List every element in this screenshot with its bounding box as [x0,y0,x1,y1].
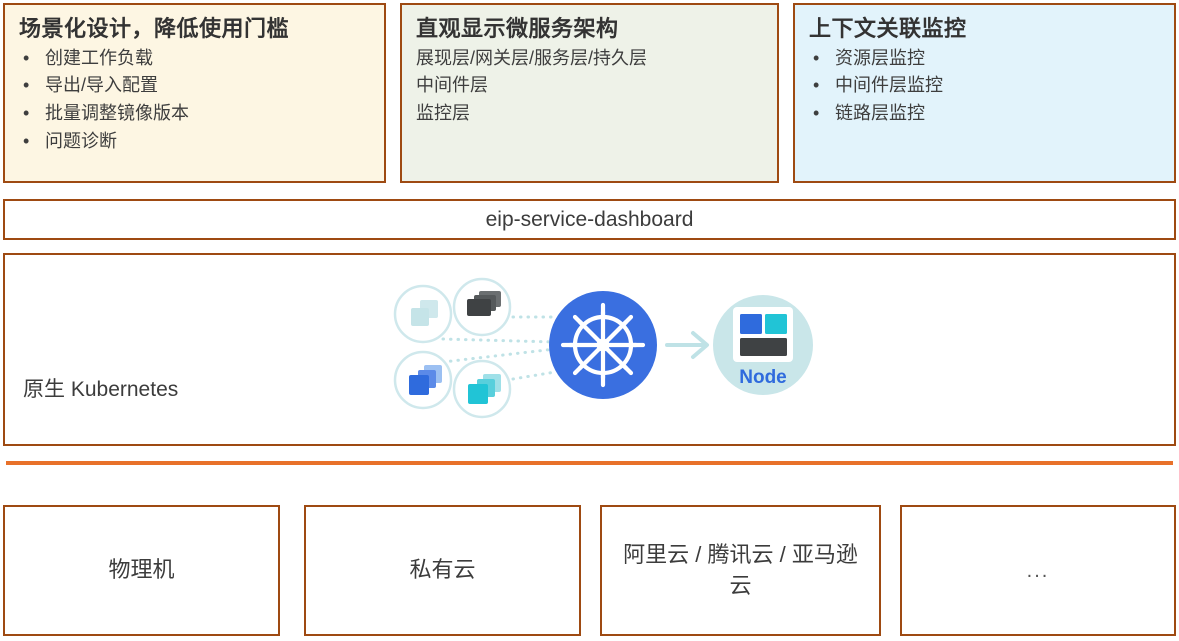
feature-card-title: 上下文关联监控 [809,15,1160,43]
list-item-label: 导出/导入配置 [45,75,158,95]
stacked-squares-dark-icon [454,279,510,335]
list-item-label: 资源层监控 [835,48,925,68]
list-item: • 链路层监控 [809,100,1160,128]
stacked-squares-cyan-icon [454,361,510,417]
infra-box-physical-machine: 物理机 [3,505,280,636]
list-item: • 中间件层监控 [809,72,1160,100]
list-item: • 资源层监控 [809,45,1160,73]
feature-card-context-monitoring: 上下文关联监控 • 资源层监控 • 中间件层监控 • 链路层监控 [793,3,1176,183]
feature-card-title: 直观显示微服务架构 [416,15,763,43]
node-label: Node [739,367,787,388]
bullet-icon: • [23,45,29,73]
feature-bullet-list: • 创建工作负载 • 导出/导入配置 • 批量调整镜像版本 • 问题诊断 [19,45,370,157]
section-divider [6,461,1173,465]
list-item: • 批量调整镜像版本 [19,100,370,128]
dashboard-layer-bar: eip-service-dashboard [3,199,1176,240]
list-item-label: 批量调整镜像版本 [45,103,189,123]
arrow-right-icon [667,333,707,357]
bullet-icon: • [23,100,29,128]
bullet-icon: • [23,128,29,156]
feature-card-microservice-architecture: 直观显示微服务架构 展现层/网关层/服务层/持久层 中间件层 监控层 [400,3,779,183]
feature-text-lines: 展现层/网关层/服务层/持久层 中间件层 监控层 [416,45,763,129]
kubernetes-label: 原生 Kubernetes [23,373,178,403]
list-item-label: 链路层监控 [835,103,925,123]
infra-box-private-cloud: 私有云 [304,505,581,636]
bullet-icon: • [813,100,819,128]
list-item-label: 创建工作负载 [45,48,153,68]
list-item: 中间件层 [416,72,763,100]
infra-box-label: 私有云 [409,555,475,586]
list-item-label: 中间件层监控 [835,75,943,95]
feature-card-title: 场景化设计，降低使用门槛 [19,15,370,43]
infra-box-label: 物理机 [108,555,174,586]
list-item: 展现层/网关层/服务层/持久层 [416,45,763,73]
feature-bullet-list: • 资源层监控 • 中间件层监控 • 链路层监控 [809,45,1160,129]
infra-box-more: ... [900,505,1176,636]
kubernetes-layer-panel: 原生 Kubernetes [3,253,1176,446]
stacked-squares-teal-light-icon [395,286,451,342]
architecture-diagram: 场景化设计，降低使用门槛 • 创建工作负载 • 导出/导入配置 • 批量调整镜像… [0,0,1179,641]
infra-box-label: ... [1027,557,1050,585]
bullet-icon: • [23,72,29,100]
bullet-icon: • [813,45,819,73]
feature-card-scenario-design: 场景化设计，降低使用门槛 • 创建工作负载 • 导出/导入配置 • 批量调整镜像… [3,3,386,183]
list-item-label: 问题诊断 [45,131,117,151]
node-icon: Node [713,295,813,395]
kubernetes-illustration: Node [375,267,815,427]
kubernetes-helm-wheel-icon [549,291,657,399]
dashboard-label: eip-service-dashboard [486,208,694,232]
stacked-squares-blue-icon [395,352,451,408]
list-item: 监控层 [416,100,763,128]
infra-box-label: 阿里云 / 腾讯云 / 亚马逊云 [616,540,865,602]
list-item: • 问题诊断 [19,128,370,156]
bullet-icon: • [813,72,819,100]
infra-box-public-cloud: 阿里云 / 腾讯云 / 亚马逊云 [600,505,881,636]
list-item: • 创建工作负载 [19,45,370,73]
list-item: • 导出/导入配置 [19,72,370,100]
